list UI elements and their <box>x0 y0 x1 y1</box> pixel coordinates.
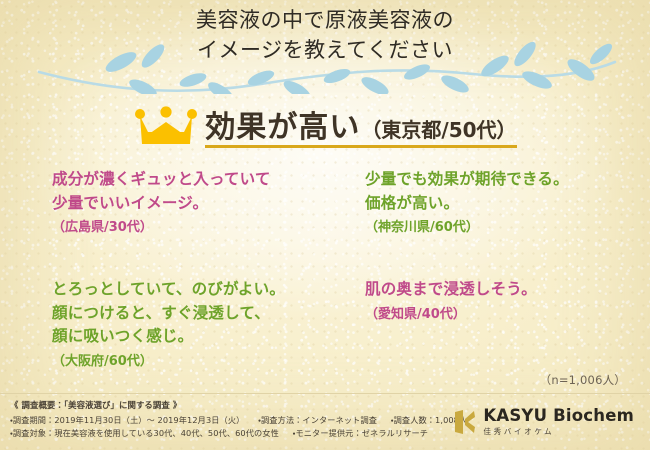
quote-line: 少量でいいイメージ。 <box>52 192 271 216</box>
quote-card-4: 肌の奥まで浸透しそう。 （愛知県/40代） <box>365 278 537 324</box>
quote-card-2: 少量でも効果が期待できる。 価格が高い。 （神奈川県/60代） <box>365 168 569 238</box>
survey-method: ・調査方法：インターネット調査 <box>258 414 377 427</box>
logo-name-jp: 佳秀バイオケム <box>483 428 634 436</box>
award-title-underlined: 効果が高い （東京都/50代） <box>205 112 516 149</box>
award-row: 効果が高い （東京都/50代） <box>0 96 650 148</box>
quote-line: 少量でも効果が期待できる。 <box>365 168 569 192</box>
infographic-page: 美容液の中で原液美容液の イメージを教えてください 効果が高い （東京都/50代… <box>0 0 650 450</box>
crown-icon <box>133 100 199 146</box>
quote-line: 顔に吸いつく感じ。 <box>52 325 285 349</box>
heading-line-2: イメージを教えてください <box>0 36 650 66</box>
award-sub-label: （東京都/50代） <box>361 120 516 141</box>
survey-outline: 《 調査概要：「美容液選び」に関する調査 》 ・調査期間：2019年11月30日… <box>10 399 480 440</box>
quote-attribution: （広島県/30代） <box>52 218 271 238</box>
heading-line-1: 美容液の中で原液美容液の <box>0 6 650 36</box>
quote-line: 成分が濃くギュッと入っていて <box>52 168 271 192</box>
quote-line: 肌の奥まで浸透しそう。 <box>365 278 537 302</box>
survey-period: ・調査期間：2019年11月30日（土）～ 2019年12月3日（火） <box>10 414 244 427</box>
survey-provider: ・モニター提供元：ゼネラルリサーチ <box>293 427 428 440</box>
quote-line: とろっとしていて、のびがよい。 <box>52 278 285 302</box>
quote-attribution: （神奈川県/60代） <box>365 218 569 238</box>
page-heading: 美容液の中で原液美容液の イメージを教えてください <box>0 6 650 66</box>
survey-outline-row-1: ・調査期間：2019年11月30日（土）～ 2019年12月3日（火） ・調査方… <box>10 414 480 427</box>
kasyu-k-mark-icon <box>454 410 476 434</box>
award-main-label: 効果が高い <box>205 112 360 144</box>
company-logo[interactable]: KASYU Biochem 佳秀バイオケム <box>454 408 634 435</box>
footer: 《 調査概要：「美容液選び」に関する調査 》 ・調査期間：2019年11月30日… <box>0 393 650 450</box>
quote-card-1: 成分が濃くギュッと入っていて 少量でいいイメージ。 （広島県/30代） <box>52 168 271 238</box>
survey-outline-row-2: ・調査対象：現在美容液を使用している30代、40代、50代、60代の女性 ・モニ… <box>10 427 480 440</box>
logo-text: KASYU Biochem 佳秀バイオケム <box>483 408 634 435</box>
sample-size-note: （n=1,006人） <box>540 372 626 388</box>
quote-attribution: （愛知県/40代） <box>365 305 537 325</box>
quote-card-3: とろっとしていて、のびがよい。 顔につけると、すぐ浸透して、 顔に吸いつく感じ。… <box>52 278 285 371</box>
logo-name-en: KASYU Biochem <box>483 408 634 425</box>
survey-outline-title: 《 調査概要：「美容液選び」に関する調査 》 <box>10 399 480 413</box>
quote-line: 価格が高い。 <box>365 192 569 216</box>
quote-grid: 成分が濃くギュッと入っていて 少量でいいイメージ。 （広島県/30代） 少量でも… <box>0 168 650 383</box>
quote-line: 顔につけると、すぐ浸透して、 <box>52 302 285 326</box>
quote-attribution: （大阪府/60代） <box>52 352 285 372</box>
survey-target: ・調査対象：現在美容液を使用している30代、40代、50代、60代の女性 <box>10 427 279 440</box>
